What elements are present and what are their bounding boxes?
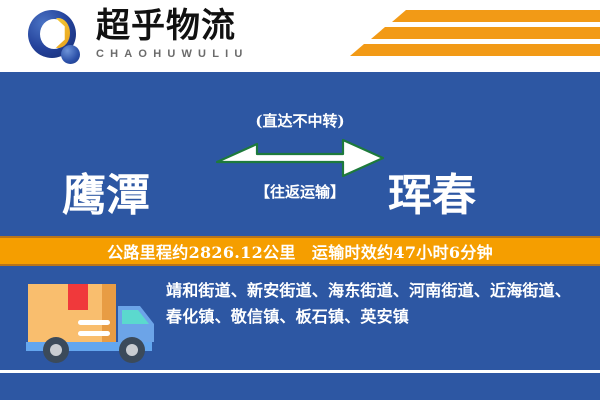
distance-and-duration-text: 公路里程约2826.12公里 运输时效约47小时6分钟 xyxy=(107,239,493,263)
banner-header: 超乎物流 CHAOHUWULIU xyxy=(0,0,600,72)
round-trip-note: 【往返运输】 xyxy=(208,183,392,201)
stripe-3 xyxy=(350,44,600,56)
double-headed-arrow-icon xyxy=(215,136,385,178)
route-info-bar: 公路里程约2826.12公里 运输时效约47小时6分钟 xyxy=(0,236,600,266)
stripe-1 xyxy=(392,10,600,22)
logo-accent-dot xyxy=(61,45,80,64)
delivery-truck-icon xyxy=(22,276,162,372)
destination-city: 珲春 xyxy=(388,172,476,220)
route-section: 鹰潭 (直达不中转) 【往返运输】 珲春 xyxy=(0,72,600,234)
coverage-area-text: 靖和街道、新安街道、海东街道、河南街道、近海街道、春化镇、敬信镇、板石镇、英安镇 xyxy=(166,278,578,330)
brand-lockup: 超乎物流 CHAOHUWULIU xyxy=(96,8,249,61)
origin-city: 鹰潭 xyxy=(62,172,150,220)
brand-name-cn: 超乎物流 xyxy=(96,8,249,44)
coverage-section: 靖和街道、新安街道、海东街道、河南街道、近海街道、春化镇、敬信镇、板石镇、英安镇 xyxy=(0,266,600,400)
bottom-divider xyxy=(0,370,600,373)
brand-name-en: CHAOHUWULIU xyxy=(96,47,249,61)
decorative-stripes xyxy=(350,10,600,62)
stripe-2 xyxy=(371,27,600,39)
logistics-route-banner: 超乎物流 CHAOHUWULIU 鹰潭 (直达不中转) 【往返运输】 珲春 公路… xyxy=(0,0,600,400)
circle-q-logo-icon xyxy=(28,10,82,64)
direct-route-note: (直达不中转) xyxy=(208,112,392,130)
route-arrow-block: (直达不中转) 【往返运输】 xyxy=(208,112,392,224)
